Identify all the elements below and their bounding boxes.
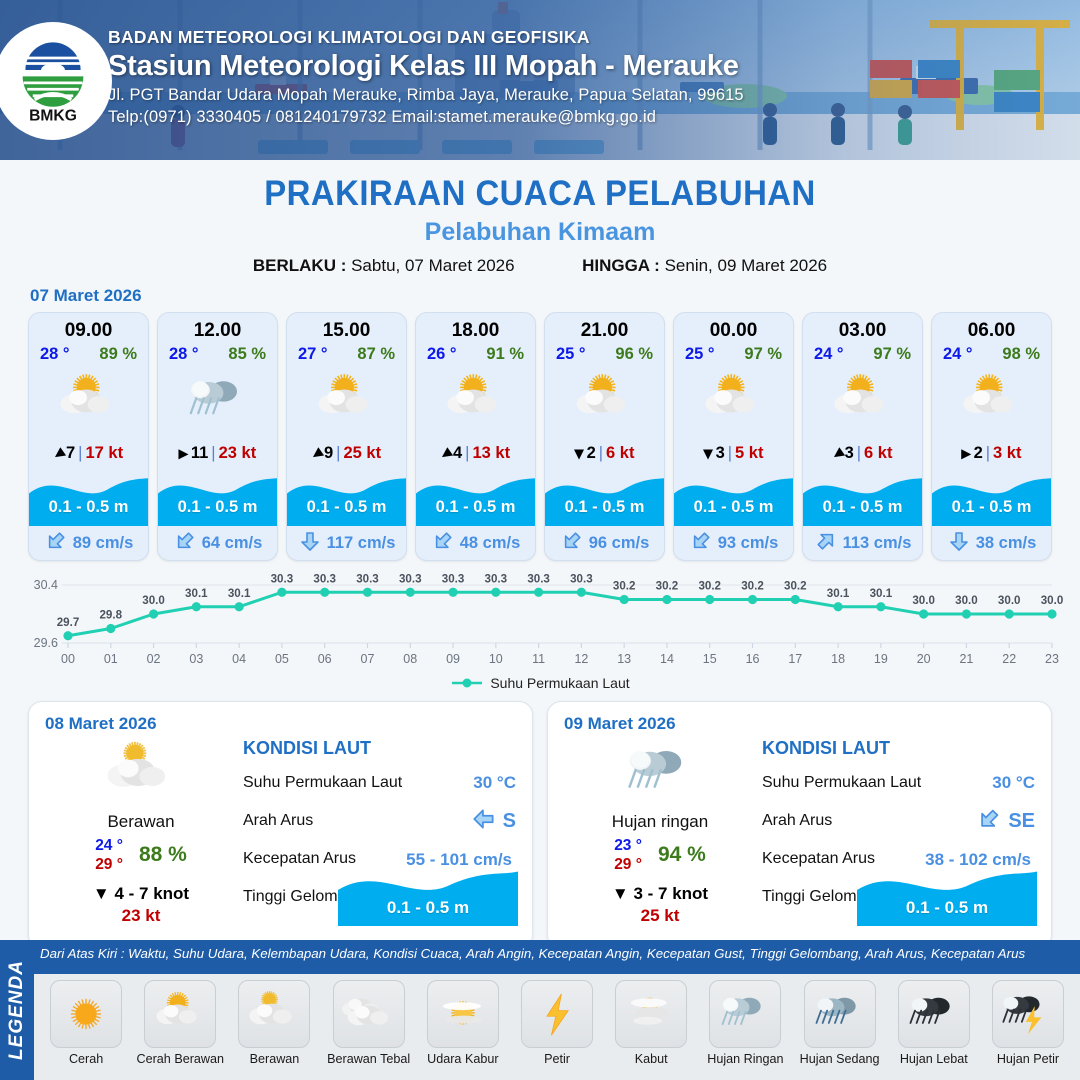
wind-separator: | [336, 444, 340, 463]
berawan-icon [238, 980, 310, 1048]
sst-row: Suhu Permukaan Laut 30 °C [762, 764, 1035, 802]
gust-speed: 6 kt [606, 444, 634, 463]
current-direction-value: S [503, 810, 516, 833]
cerah-berawan-icon [287, 364, 406, 438]
card-current: 48 cm/s [416, 526, 535, 560]
legend-item-label: Hujan Sedang [794, 1052, 886, 1066]
wave-band: 0.1 - 0.5 m [158, 470, 277, 526]
card-humidity: 97 % [873, 345, 911, 364]
svg-text:02: 02 [147, 652, 161, 666]
kabut-icon [615, 980, 687, 1048]
hourly-card: 12.00 28 ° 85 % ▸ 11 | 23 kt 0.1 - 0.5 m… [157, 312, 278, 561]
legend-marker-icon [450, 677, 484, 689]
sst-chart-svg: 30.429.629.70029.80130.00230.10330.10430… [16, 571, 1064, 671]
legend-item-label: Cerah [40, 1052, 132, 1066]
svg-text:21: 21 [959, 652, 973, 666]
panel-humidity: 94 % [658, 843, 706, 867]
panel-wind-speed: 4 - 7 knot [114, 884, 189, 903]
wave-height: 0.1 - 0.5 m [416, 498, 535, 517]
svg-text:30.3: 30.3 [485, 572, 508, 585]
page-title: PRAKIRAAN CUACA PELABUHAN [32, 174, 1047, 214]
gust-speed: 5 kt [735, 444, 763, 463]
legend-item: Hujan Petir [982, 980, 1074, 1066]
current-speed: 38 cm/s [976, 534, 1037, 553]
svg-text:23: 23 [1045, 652, 1059, 666]
svg-text:30.3: 30.3 [527, 572, 550, 585]
svg-text:16: 16 [746, 652, 760, 666]
card-current: 96 cm/s [545, 526, 664, 560]
gust-speed: 17 kt [85, 444, 123, 463]
cerah-berawan-icon [545, 364, 664, 438]
current-speed: 117 cm/s [327, 534, 396, 553]
legend-item-label: Berawan [228, 1052, 320, 1066]
wind-direction-icon: ▸ [179, 444, 188, 462]
legend-item-label: Cerah Berawan [134, 1052, 226, 1066]
legend-tab-label: LEGENDA [6, 960, 28, 1060]
svg-text:11: 11 [532, 652, 545, 666]
wind-direction-icon: ▼ [93, 884, 110, 903]
legend-item: Cerah [40, 980, 132, 1066]
card-time: 15.00 [287, 313, 406, 342]
wind-direction-icon: ▸ [962, 444, 971, 462]
sst-chart: 30.429.629.70029.80130.00230.10330.10430… [16, 571, 1064, 671]
legend-item: Petir [511, 980, 603, 1066]
station-address: Jl. PGT Bandar Udara Mopah Merauke, Rimb… [108, 86, 744, 105]
svg-text:30.2: 30.2 [698, 580, 721, 593]
legend-item: Berawan [228, 980, 320, 1066]
current-direction-row: Arah Arus SE [762, 802, 1035, 840]
svg-text:BMKG: BMKG [29, 108, 77, 125]
svg-text:30.2: 30.2 [613, 580, 636, 593]
arrow-e-icon [947, 529, 971, 558]
card-time: 21.00 [545, 313, 664, 342]
card-temperature: 24 ° [814, 345, 844, 364]
card-time: 06.00 [932, 313, 1051, 342]
card-temperature: 26 ° [427, 345, 457, 364]
station-name: Stasiun Meteorologi Kelas III Mopah - Me… [108, 50, 744, 83]
svg-text:18: 18 [831, 652, 845, 666]
panel-wave-band: 0.1 - 0.5 m [338, 864, 518, 926]
card-wind: ▾ 2 | 6 kt [545, 438, 664, 468]
card-wind: ◂ 4 | 13 kt [416, 438, 535, 468]
cerah-berawan-icon [803, 364, 922, 438]
wave-band: 0.1 - 0.5 m [287, 470, 406, 526]
svg-text:20: 20 [917, 652, 931, 666]
bmkg-logo: BMKG [0, 22, 112, 140]
svg-text:29.6: 29.6 [34, 636, 58, 650]
wind-speed: 11 [191, 444, 208, 463]
wave-height: 0.1 - 0.5 m [803, 498, 922, 517]
valid-from-label: BERLAKU : [253, 256, 347, 275]
arrow-sw-icon [44, 529, 68, 558]
wind-speed: 2 [974, 444, 983, 463]
current-direction-value: SE [1008, 810, 1035, 833]
svg-text:06: 06 [318, 652, 332, 666]
current-speed: 64 cm/s [202, 534, 263, 553]
agency-name: BADAN METEOROLOGI KLIMATOLOGI DAN GEOFIS… [108, 27, 744, 48]
card-humidity: 87 % [357, 345, 395, 364]
wave-band: 0.1 - 0.5 m [29, 470, 148, 526]
gust-speed: 3 kt [993, 444, 1021, 463]
daily-forecast-panel: 08 Maret 2026 Berawan 24 ° 29 ° 88 % ▼ 4… [28, 701, 533, 949]
legend-item: Udara Kabur [417, 980, 509, 1066]
wave-height: 0.1 - 0.5 m [287, 498, 406, 517]
legend-item: Kabut [605, 980, 697, 1066]
legend-item: Hujan Ringan [699, 980, 791, 1066]
hourly-card: 09.00 28 ° 89 % ◂ 7 | 17 kt 0.1 - 0.5 m … [28, 312, 149, 561]
svg-text:30.1: 30.1 [827, 587, 850, 600]
sea-condition-title: KONDISI LAUT [762, 738, 1035, 759]
svg-text:07: 07 [361, 652, 375, 666]
card-humidity: 85 % [228, 345, 266, 364]
svg-text:30.3: 30.3 [399, 572, 422, 585]
card-humidity: 91 % [486, 345, 524, 364]
card-wind: ◂ 3 | 6 kt [803, 438, 922, 468]
legend-item: Hujan Lebat [888, 980, 980, 1066]
wind-separator: | [78, 444, 82, 463]
arrow-s-icon [471, 806, 497, 837]
svg-text:01: 01 [104, 652, 118, 666]
card-humidity: 96 % [615, 345, 653, 364]
panel-humidity: 88 % [139, 843, 187, 867]
panel-temp-min: 24 ° [95, 836, 123, 855]
svg-text:30.2: 30.2 [656, 580, 679, 593]
card-current: 64 cm/s [158, 526, 277, 560]
svg-text:30.3: 30.3 [356, 572, 379, 585]
svg-text:19: 19 [874, 652, 888, 666]
current-speed: 89 cm/s [73, 534, 134, 553]
svg-text:30.3: 30.3 [442, 572, 465, 585]
panel-wind: ▼ 4 - 7 knot [45, 884, 237, 904]
wind-direction-icon: ▾ [575, 444, 584, 462]
wave-band: 0.1 - 0.5 m [545, 470, 664, 526]
wind-speed: 3 [716, 444, 725, 463]
card-time: 03.00 [803, 313, 922, 342]
card-time: 09.00 [29, 313, 148, 342]
cerah-berawan-icon [932, 364, 1051, 438]
svg-text:30.0: 30.0 [142, 594, 165, 607]
cerah-berawan-icon [29, 364, 148, 438]
card-wind: ▸ 11 | 23 kt [158, 438, 277, 468]
gust-speed: 25 kt [343, 444, 381, 463]
svg-text:30.1: 30.1 [870, 587, 893, 600]
legend-item-label: Berawan Tebal [323, 1052, 415, 1066]
svg-text:04: 04 [232, 652, 246, 666]
card-temperature: 25 ° [685, 345, 715, 364]
wave-band: 0.1 - 0.5 m [674, 470, 793, 526]
hourly-card: 06.00 24 ° 98 % ▸ 2 | 3 kt 0.1 - 0.5 m 3… [931, 312, 1052, 561]
legend-item-label: Kabut [605, 1052, 697, 1066]
hujan-lebat-icon [898, 980, 970, 1048]
valid-from-value: Sabtu, 07 Maret 2026 [351, 256, 515, 275]
cerah-icon [50, 980, 122, 1048]
hourly-card: 03.00 24 ° 97 % ◂ 3 | 6 kt 0.1 - 0.5 m 1… [802, 312, 923, 561]
wind-direction-icon: ▼ [612, 884, 629, 903]
svg-text:12: 12 [574, 652, 588, 666]
card-wind: ▾ 3 | 5 kt [674, 438, 793, 468]
valid-until-label: HINGGA : [582, 256, 660, 275]
svg-text:10: 10 [489, 652, 503, 666]
legend-item-label: Udara Kabur [417, 1052, 509, 1066]
gust-speed: 23 kt [219, 444, 257, 463]
wave-height: 0.1 - 0.5 m [674, 498, 793, 517]
card-wind: ◂ 7 | 17 kt [29, 438, 148, 468]
daily-forecast-panels: 08 Maret 2026 Berawan 24 ° 29 ° 88 % ▼ 4… [0, 691, 1080, 949]
hourly-card: 21.00 25 ° 96 % ▾ 2 | 6 kt 0.1 - 0.5 m 9… [544, 312, 665, 561]
wind-speed: 4 [453, 444, 462, 463]
cerah-berawan-icon [674, 364, 793, 438]
petir-icon [521, 980, 593, 1048]
panel-wind-speed: 3 - 7 knot [633, 884, 708, 903]
svg-text:30.3: 30.3 [271, 572, 294, 585]
card-temperature: 28 ° [169, 345, 199, 364]
wind-separator: | [465, 444, 469, 463]
hourly-forecast-list: 09.00 28 ° 89 % ◂ 7 | 17 kt 0.1 - 0.5 m … [0, 312, 1080, 561]
panel-temp-max: 29 ° [95, 855, 123, 874]
legend-item-label: Hujan Petir [982, 1052, 1074, 1066]
arrow-sw-icon [431, 529, 455, 558]
legend-items: Cerah Cerah Berawan Berawan Berawan Teba… [34, 974, 1080, 1066]
svg-text:03: 03 [189, 652, 203, 666]
svg-text:30.1: 30.1 [185, 587, 208, 600]
wind-direction-icon: ▾ [704, 444, 713, 462]
svg-text:05: 05 [275, 652, 289, 666]
svg-text:29.8: 29.8 [99, 609, 122, 622]
wind-separator: | [857, 444, 861, 463]
wave-height: 0.1 - 0.5 m [545, 498, 664, 517]
card-current: 113 cm/s [803, 526, 922, 560]
hourly-card: 15.00 27 ° 87 % ◂ 9 | 25 kt 0.1 - 0.5 m … [286, 312, 407, 561]
arrow-sw-icon [689, 529, 713, 558]
berawan-icon [45, 736, 237, 810]
wind-separator: | [211, 444, 215, 463]
current-direction-label: Arah Arus [243, 812, 471, 830]
hujan-ringan-icon [158, 364, 277, 438]
svg-text:30.0: 30.0 [955, 594, 978, 607]
card-humidity: 89 % [99, 345, 137, 364]
sst-row: Suhu Permukaan Laut 30 °C [243, 764, 516, 802]
wind-speed: 2 [587, 444, 596, 463]
wind-separator: | [728, 444, 732, 463]
svg-text:30.1: 30.1 [228, 587, 251, 600]
panel-condition: Hujan ringan [564, 812, 756, 832]
wind-speed: 9 [324, 444, 333, 463]
legend-note: Dari Atas Kiri : Waktu, Suhu Udara, Kele… [40, 946, 1076, 961]
svg-text:30.4: 30.4 [34, 578, 58, 592]
wind-direction-icon: ◂ [50, 443, 68, 463]
svg-text:30.2: 30.2 [784, 580, 807, 593]
card-temperature: 28 ° [40, 345, 70, 364]
arrow-ne-icon [814, 529, 838, 558]
legend-label: Suhu Permukaan Laut [490, 675, 629, 691]
arrow-e-icon [298, 529, 322, 558]
svg-text:15: 15 [703, 652, 717, 666]
arrow-sw-icon [560, 529, 584, 558]
svg-text:30.0: 30.0 [1041, 594, 1064, 607]
card-current: 117 cm/s [287, 526, 406, 560]
sst-value: 30 °C [992, 773, 1035, 793]
card-current: 93 cm/s [674, 526, 793, 560]
svg-text:30.0: 30.0 [912, 594, 935, 607]
svg-text:29.7: 29.7 [57, 616, 80, 629]
legend-panel: Cerah Cerah Berawan Berawan Berawan Teba… [34, 974, 1080, 1080]
svg-text:17: 17 [788, 652, 802, 666]
card-current: 38 cm/s [932, 526, 1051, 560]
chart-legend: Suhu Permukaan Laut [0, 675, 1080, 691]
card-current: 89 cm/s [29, 526, 148, 560]
svg-text:09: 09 [446, 652, 460, 666]
current-speed: 96 cm/s [589, 534, 650, 553]
wave-height: 0.1 - 0.5 m [932, 498, 1051, 517]
arrow-se-icon [976, 806, 1002, 837]
panel-gust: 25 kt [564, 906, 756, 926]
wave-height: 0.1 - 0.5 m [158, 498, 277, 517]
panel-gust: 23 kt [45, 906, 237, 926]
validity-row: BERLAKU : Sabtu, 07 Maret 2026 HINGGA : … [0, 256, 1080, 276]
svg-text:22: 22 [1002, 652, 1016, 666]
arrow-sw-icon [173, 529, 197, 558]
wind-direction-icon: ◂ [437, 443, 455, 463]
valid-until-value: Senin, 09 Maret 2026 [665, 256, 828, 275]
cerah-berawan-icon [416, 364, 535, 438]
title-block: PRAKIRAAN CUACA PELABUHAN Pelabuhan Kima… [0, 160, 1080, 276]
hujan-sedang-icon [804, 980, 876, 1048]
panel-wave-value: 0.1 - 0.5 m [338, 898, 518, 918]
bmkg-logo-icon: BMKG [7, 35, 99, 127]
card-time: 00.00 [674, 313, 793, 342]
day1-date: 07 Maret 2026 [30, 286, 1080, 306]
daily-forecast-panel: 09 Maret 2026 Hujan ringan 23 ° 29 ° 94 … [547, 701, 1052, 949]
card-temperature: 25 ° [556, 345, 586, 364]
legend-item: Berawan Tebal [323, 980, 415, 1066]
sea-condition-title: KONDISI LAUT [243, 738, 516, 759]
hujan-ringan-icon [709, 980, 781, 1048]
sst-value: 30 °C [473, 773, 516, 793]
panel-wave-value: 0.1 - 0.5 m [857, 898, 1037, 918]
sst-label: Suhu Permukaan Laut [762, 774, 992, 792]
panel-wind: ▼ 3 - 7 knot [564, 884, 756, 904]
berawan-tebal-icon [333, 980, 405, 1048]
wind-speed: 7 [66, 444, 75, 463]
legend-item: Hujan Sedang [794, 980, 886, 1066]
station-contact: Telp:(0971) 3330405 / 081240179732 Email… [108, 108, 744, 127]
hujan-petir-icon [992, 980, 1064, 1048]
card-time: 18.00 [416, 313, 535, 342]
wind-direction-icon: ◂ [828, 443, 846, 463]
page-header: BMKG BADAN METEOROLOGI KLIMATOLOGI DAN G… [0, 0, 1080, 160]
hourly-card: 00.00 25 ° 97 % ▾ 3 | 5 kt 0.1 - 0.5 m 9… [673, 312, 794, 561]
card-wind: ◂ 9 | 25 kt [287, 438, 406, 468]
hujan-ringan-icon [564, 736, 756, 810]
card-wind: ▸ 2 | 3 kt [932, 438, 1051, 468]
panel-wave-band: 0.1 - 0.5 m [857, 864, 1037, 926]
svg-text:14: 14 [660, 652, 674, 666]
current-direction-label: Arah Arus [762, 812, 976, 830]
current-speed: 113 cm/s [843, 534, 912, 553]
svg-text:30.2: 30.2 [741, 580, 764, 593]
panel-temp-max: 29 ° [614, 855, 642, 874]
card-humidity: 97 % [744, 345, 782, 364]
wave-height: 0.1 - 0.5 m [29, 498, 148, 517]
card-temperature: 24 ° [943, 345, 973, 364]
svg-text:13: 13 [617, 652, 631, 666]
legend-item-label: Hujan Ringan [699, 1052, 791, 1066]
wind-separator: | [599, 444, 603, 463]
panel-date: 08 Maret 2026 [45, 714, 516, 734]
svg-text:30.3: 30.3 [313, 572, 336, 585]
gust-speed: 13 kt [472, 444, 510, 463]
card-time: 12.00 [158, 313, 277, 342]
panel-condition: Berawan [45, 812, 237, 832]
card-humidity: 98 % [1002, 345, 1040, 364]
wind-separator: | [986, 444, 990, 463]
hourly-card: 18.00 26 ° 91 % ◂ 4 | 13 kt 0.1 - 0.5 m … [415, 312, 536, 561]
legend-item: Cerah Berawan [134, 980, 226, 1066]
udara-kabur-icon [427, 980, 499, 1048]
panel-date: 09 Maret 2026 [564, 714, 1035, 734]
current-direction-row: Arah Arus S [243, 802, 516, 840]
port-name: Pelabuhan Kimaam [0, 218, 1080, 247]
panel-temp-min: 23 ° [614, 836, 642, 855]
svg-text:30.0: 30.0 [998, 594, 1021, 607]
legend-tab: LEGENDA [0, 940, 34, 1080]
gust-speed: 6 kt [864, 444, 892, 463]
svg-text:30.3: 30.3 [570, 572, 593, 585]
wave-band: 0.1 - 0.5 m [416, 470, 535, 526]
card-temperature: 27 ° [298, 345, 328, 364]
legend-item-label: Hujan Lebat [888, 1052, 980, 1066]
wave-band: 0.1 - 0.5 m [932, 470, 1051, 526]
wind-speed: 3 [845, 444, 854, 463]
legend-item-label: Petir [511, 1052, 603, 1066]
legend-section: LEGENDA Dari Atas Kiri : Waktu, Suhu Uda… [0, 940, 1080, 1080]
current-speed: 93 cm/s [718, 534, 779, 553]
wind-direction-icon: ◂ [308, 443, 326, 463]
sst-label: Suhu Permukaan Laut [243, 774, 473, 792]
svg-text:08: 08 [403, 652, 417, 666]
cerah-berawan-icon [144, 980, 216, 1048]
svg-text:00: 00 [61, 652, 75, 666]
current-speed: 48 cm/s [460, 534, 521, 553]
wave-band: 0.1 - 0.5 m [803, 470, 922, 526]
